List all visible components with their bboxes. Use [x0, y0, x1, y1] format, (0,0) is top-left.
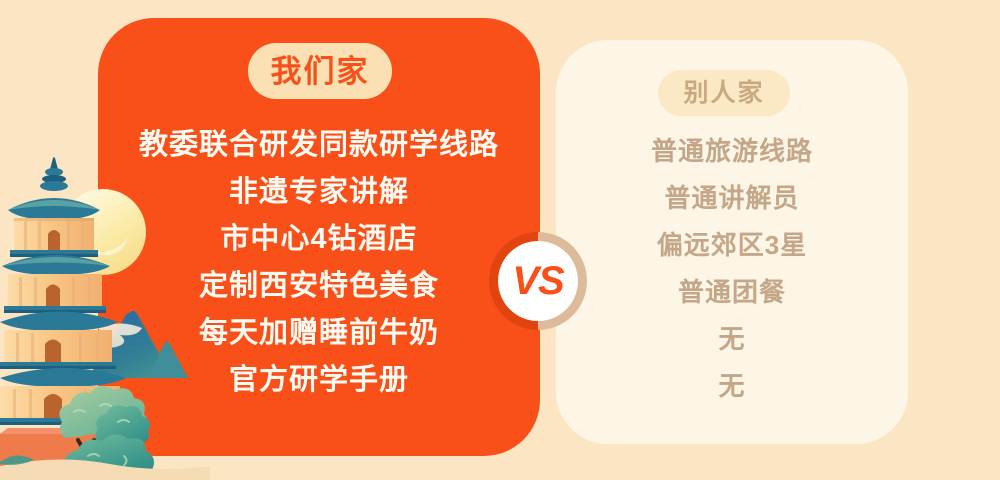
- ours-feature-row: 定制西安特色美食: [199, 266, 439, 306]
- vs-badge: VS: [489, 232, 587, 330]
- ours-badge-label: 我们家: [271, 56, 370, 87]
- comparison-graphic: 我们家 别人家 教委联合研发同款研学线路 非遗专家讲解 市中心4钻酒店 定制西安…: [0, 0, 1000, 480]
- ours-feature-row: 每天加赠睡前牛奶: [199, 313, 439, 353]
- theirs-feature-row: 无: [718, 367, 745, 406]
- theirs-feature-row: 普通旅游线路: [651, 132, 813, 171]
- theirs-badge: 别人家: [658, 70, 790, 116]
- theirs-feature-list: 普通旅游线路 普通讲解员 偏远郊区3星 普通团餐 无 无: [556, 132, 908, 406]
- vs-label: VS: [512, 261, 563, 301]
- ours-badge: 我们家: [248, 43, 392, 99]
- ground: [0, 459, 210, 480]
- theirs-badge-label: 别人家: [683, 81, 764, 106]
- ground-shrub: [0, 455, 34, 464]
- ours-feature-row: 非遗专家讲解: [229, 172, 409, 212]
- ours-feature-row: 市中心4钻酒店: [220, 219, 417, 259]
- vs-inner-circle: VS: [498, 241, 578, 321]
- ours-feature-row: 教委联合研发同款研学线路: [139, 125, 499, 165]
- theirs-feature-row: 普通团餐: [678, 273, 786, 312]
- theirs-feature-row: 普通讲解员: [664, 179, 799, 218]
- theirs-feature-row: 偏远郊区3星: [657, 226, 807, 265]
- theirs-feature-row: 无: [718, 320, 745, 359]
- ours-feature-row: 官方研学手册: [229, 360, 409, 400]
- ours-feature-list: 教委联合研发同款研学线路 非遗专家讲解 市中心4钻酒店 定制西安特色美食 每天加…: [98, 125, 540, 400]
